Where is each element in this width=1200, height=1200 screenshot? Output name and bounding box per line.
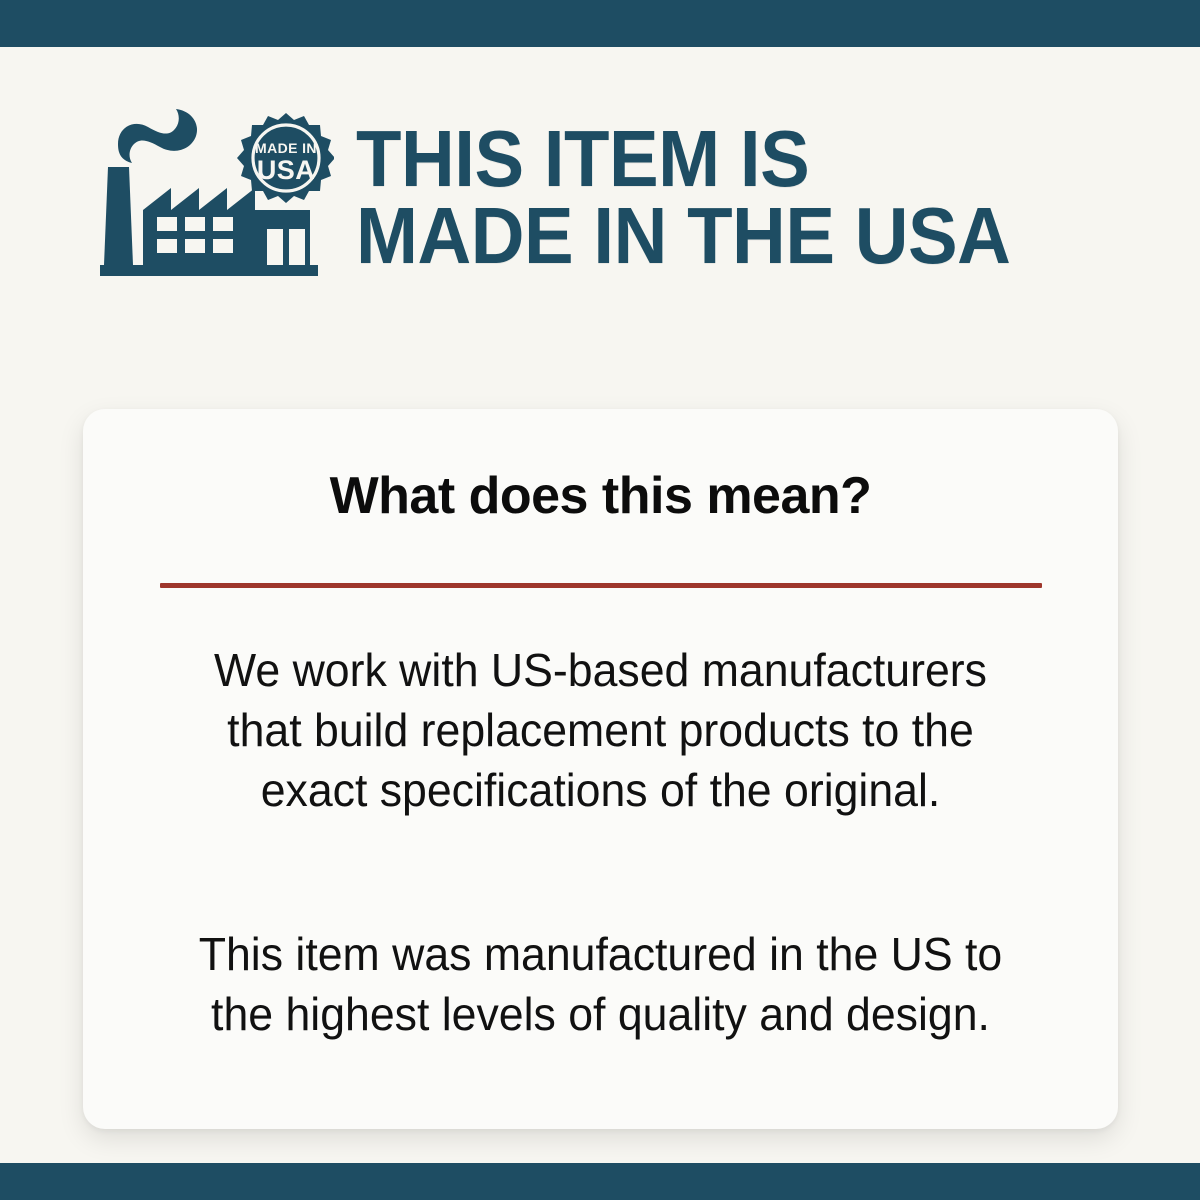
paragraph-line: the highest levels of quality and design… [157,985,1045,1045]
made-in-usa-logo: MADE IN USA [96,105,334,290]
bottom-accent-bar [0,1163,1200,1200]
card-heading: What does this mean? [83,466,1118,526]
header: MADE IN USA THIS ITEM IS MADE IN THE USA [96,100,1156,295]
factory-base-icon [100,265,318,276]
seal-line1: MADE IN [255,140,317,156]
paragraph-line: exact specifications of the original. [157,761,1045,821]
paragraph-one: We work with US-based manufacturers that… [157,641,1045,820]
smoke-icon [118,109,197,163]
paragraph-two: This item was manufactured in the US to … [157,925,1045,1045]
info-card: What does this mean? We work with US-bas… [83,409,1118,1129]
paragraph-line: We work with US-based manufacturers [157,641,1045,701]
heading-divider [160,583,1042,588]
smokestack-icon [104,167,133,265]
page-title: THIS ITEM IS MADE IN THE USA [356,121,1010,275]
paragraph-line: that build replacement products to the [157,701,1045,761]
paragraph-line: This item was manufactured in the US to [157,925,1045,985]
content-stage: MADE IN USA THIS ITEM IS MADE IN THE USA… [0,47,1200,1163]
top-accent-bar [0,0,1200,47]
made-in-usa-seal-icon: MADE IN USA [237,113,334,203]
seal-line2: USA [257,155,315,185]
